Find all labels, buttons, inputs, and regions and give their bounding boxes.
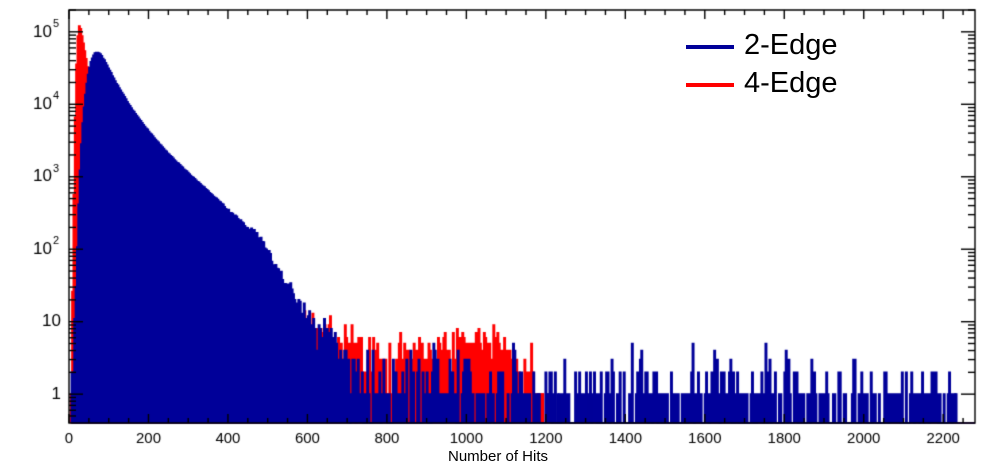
histogram-canvas: [0, 0, 996, 472]
chart-root: 2-Edge 4-Edge Number of Hits: [0, 0, 996, 472]
